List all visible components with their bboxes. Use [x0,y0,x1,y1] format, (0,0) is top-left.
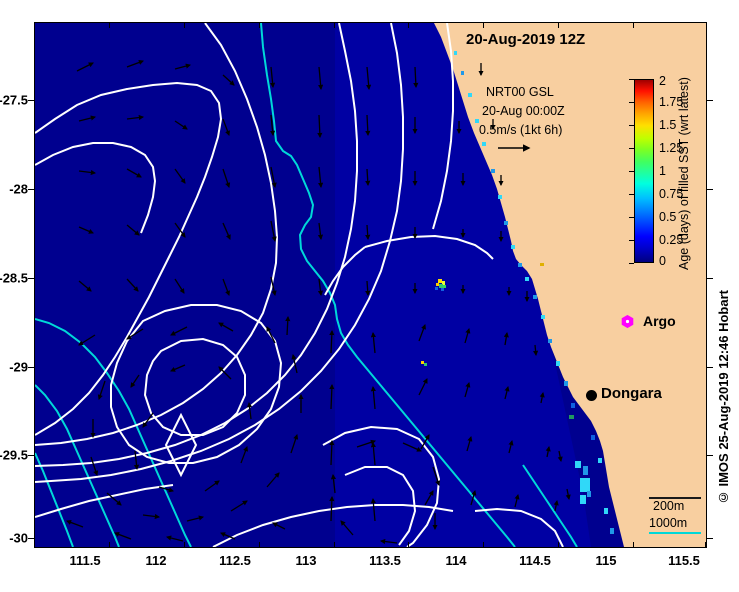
colorbar-label-0: 0 [659,254,666,268]
ytick-label: -30 [9,531,28,546]
xtick-mark [705,542,706,548]
xtick-label: 114.5 [519,553,551,568]
xtick-mark-top [259,22,260,28]
ytick-mark-right [707,278,713,279]
xtick-mark [334,542,335,548]
xtick-label: 112.5 [219,553,251,568]
colorbar-tick [629,240,634,241]
ytick-mark [28,538,34,539]
colorbar-title: Age (days) of filled SST (wrt latest) [677,69,693,279]
annotation-vector-scale: 0.5m/s (1kt 6h) [479,123,562,137]
imos-credit: © IMOS 25-Aug-2019 12:46 Hobart [716,290,731,505]
depth-label-1000m: 1000m [649,516,687,531]
ytick-label: -28 [9,182,28,197]
colorbar-label-05: 0.5 [659,210,676,224]
ytick-mark [28,189,34,190]
colorbar-gradient [634,79,654,263]
xtick-mark [408,542,409,548]
colorbar-label-1: 1 [659,164,666,178]
colorbar-tick [629,194,634,195]
xtick-label: 111.5 [69,553,100,568]
ytick-mark [28,278,34,279]
dongara-label: Dongara [601,385,662,402]
ytick-label: -29 [9,360,28,375]
imos-sst-current-map: 20-Aug-2019 12Z NRT00 GSL 20-Aug 00:00Z … [0,0,739,592]
ytick-label: -28.5 [0,271,28,286]
xtick-mark [259,542,260,548]
xtick-label: 113.5 [369,553,401,568]
xtick-mark [633,542,634,548]
colorbar-label-15: 1.5 [659,118,676,132]
colorbar-tick [629,79,634,80]
xtick-label: 112 [146,553,167,568]
xtick-label: 115 [596,553,617,568]
xtick-mark-top [633,22,634,28]
ytick-mark-right [707,455,713,456]
xtick-mark-top [558,22,559,28]
map-title-date: 20-Aug-2019 12Z [466,31,585,48]
xtick-mark [558,542,559,548]
xtick-mark-top [184,22,185,28]
xtick-label: 115.5 [668,553,700,568]
colorbar-tick [629,263,634,264]
xtick-mark-top [109,22,110,28]
ytick-mark [28,455,34,456]
colorbar-label-2: 2 [659,74,666,88]
depth-line-1000m [649,532,701,534]
xtick-mark [109,542,110,548]
xtick-label: 114 [446,553,467,568]
argo-label: Argo [643,313,676,329]
dongara-town-marker[interactable] [586,390,597,401]
ytick-mark-right [707,189,713,190]
colorbar-tick [629,171,634,172]
ytick-mark [28,367,34,368]
ytick-label: -29.5 [0,448,28,463]
depth-label-200m: 200m [653,499,684,514]
argo-float-marker[interactable] [621,315,634,328]
annotation-product: NRT00 GSL [486,85,554,99]
xtick-mark [483,542,484,548]
ytick-mark-right [707,100,713,101]
ytick-mark-right [707,367,713,368]
map-plot-area[interactable]: 20-Aug-2019 12Z NRT00 GSL 20-Aug 00:00Z … [34,22,707,548]
colorbar-tick [629,102,634,103]
ytick-mark-right [707,538,713,539]
annotation-datetime: 20-Aug 00:00Z [482,104,565,118]
xtick-label: 113 [296,553,317,568]
colorbar-tick [629,148,634,149]
colorbar-tick [629,217,634,218]
ytick-mark [28,100,34,101]
xtick-mark [184,542,185,548]
xtick-mark-top [334,22,335,28]
xtick-mark-top [483,22,484,28]
ytick-label: -27.5 [0,93,28,108]
map-canvas [35,23,706,547]
reference-vector-arrow [497,141,537,151]
colorbar-tick [629,125,634,126]
colorbar: 2 1.75 1.5 1.25 1 0.75 0.5 0.25 0 [634,79,654,263]
xtick-mark-top [408,22,409,28]
